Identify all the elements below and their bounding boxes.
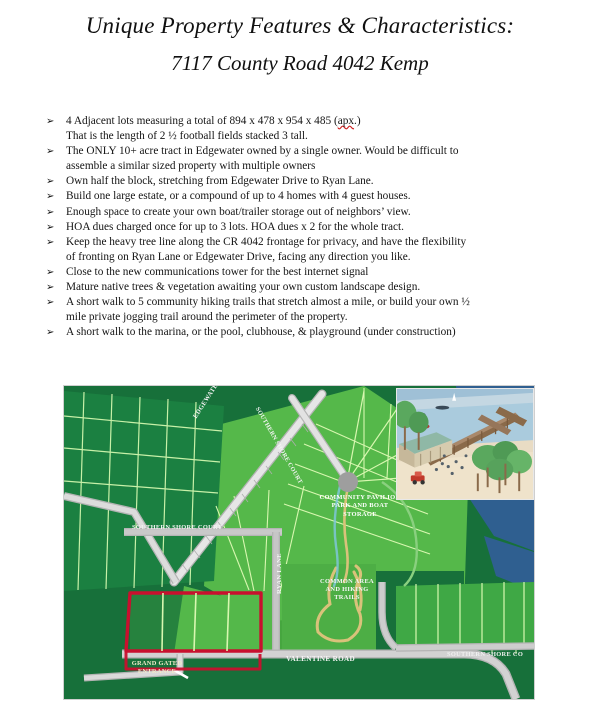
bullet-arrow-icon: ➢: [46, 220, 54, 235]
list-item: ➢ Keep the heavy tree line along the CR …: [44, 235, 584, 265]
list-item: ➢ The ONLY 10+ acre tract in Edgewater o…: [44, 144, 584, 174]
spellcheck-word: apx: [338, 115, 354, 127]
highlighted-parcel: [126, 593, 261, 651]
list-item-line: Keep the heavy tree line along the CR 40…: [66, 235, 584, 250]
list-item-line: 4 Adjacent lots measuring a total of 894…: [66, 114, 584, 129]
bullet-arrow-icon: ➢: [46, 325, 54, 340]
list-item-line: HOA dues charged once for up to 3 lots. …: [66, 220, 584, 235]
list-item-line: Enough space to create your own boat/tra…: [66, 205, 584, 220]
bullet-arrow-icon: ➢: [46, 174, 54, 189]
list-item-line: Mature native trees & vegetation awaitin…: [66, 280, 584, 295]
list-item: ➢ A short walk to 5 community hiking tra…: [44, 295, 584, 325]
list-item: ➢ HOA dues charged once for up to 3 lots…: [44, 220, 584, 235]
bullet-arrow-icon: ➢: [46, 114, 54, 129]
subdivision-plat-map: Edgewater Drive Southern Shore Court Sou…: [63, 385, 535, 700]
list-item: ➢ Mature native trees & vegetation await…: [44, 280, 584, 295]
list-item-line: A short walk to 5 community hiking trail…: [66, 295, 584, 310]
bullet-arrow-icon: ➢: [46, 189, 54, 204]
list-item-line: Build one large estate, or a compound of…: [66, 189, 584, 204]
list-item: ➢ Build one large estate, or a compound …: [44, 189, 584, 204]
list-item-line: assemble a similar sized property with m…: [66, 159, 584, 174]
marina-scene-graphic: [397, 389, 533, 499]
bullet-arrow-icon: ➢: [46, 265, 54, 280]
list-item-line: Own half the block, stretching from Edge…: [66, 174, 584, 189]
bullet-arrow-icon: ➢: [46, 295, 54, 310]
list-item: ➢ Close to the new communications tower …: [44, 265, 584, 280]
bullet-arrow-icon: ➢: [46, 205, 54, 220]
list-item-line: The ONLY 10+ acre tract in Edgewater own…: [66, 144, 584, 159]
list-item: ➢ Own half the block, stretching from Ed…: [44, 174, 584, 189]
list-item-line: mile private jogging trail around the pe…: [66, 310, 584, 325]
page-title: Unique Property Features & Characteristi…: [0, 10, 600, 78]
bullet-arrow-icon: ➢: [46, 144, 54, 159]
list-item: ➢ Enough space to create your own boat/t…: [44, 205, 584, 220]
list-item-line: A short walk to the marina, or the pool,…: [66, 325, 584, 340]
bullet-arrow-icon: ➢: [46, 280, 54, 295]
list-item-line: of fronting on Ryan Lane or Edgewater Dr…: [66, 250, 584, 265]
list-item-line: Close to the new communications tower fo…: [66, 265, 584, 280]
list-item: ➢ A short walk to the marina, or the poo…: [44, 325, 584, 340]
list-item-line: That is the length of 2 ½ football field…: [66, 129, 584, 144]
bullet-arrow-icon: ➢: [46, 235, 54, 250]
marina-illustration-inset: [396, 388, 534, 500]
title-line-1: Unique Property Features & Characteristi…: [0, 10, 600, 42]
features-list: ➢ 4 Adjacent lots measuring a total of 8…: [44, 114, 584, 340]
title-line-2: 7117 County Road 4042 Kemp: [0, 48, 600, 78]
list-item: ➢ 4 Adjacent lots measuring a total of 8…: [44, 114, 584, 144]
